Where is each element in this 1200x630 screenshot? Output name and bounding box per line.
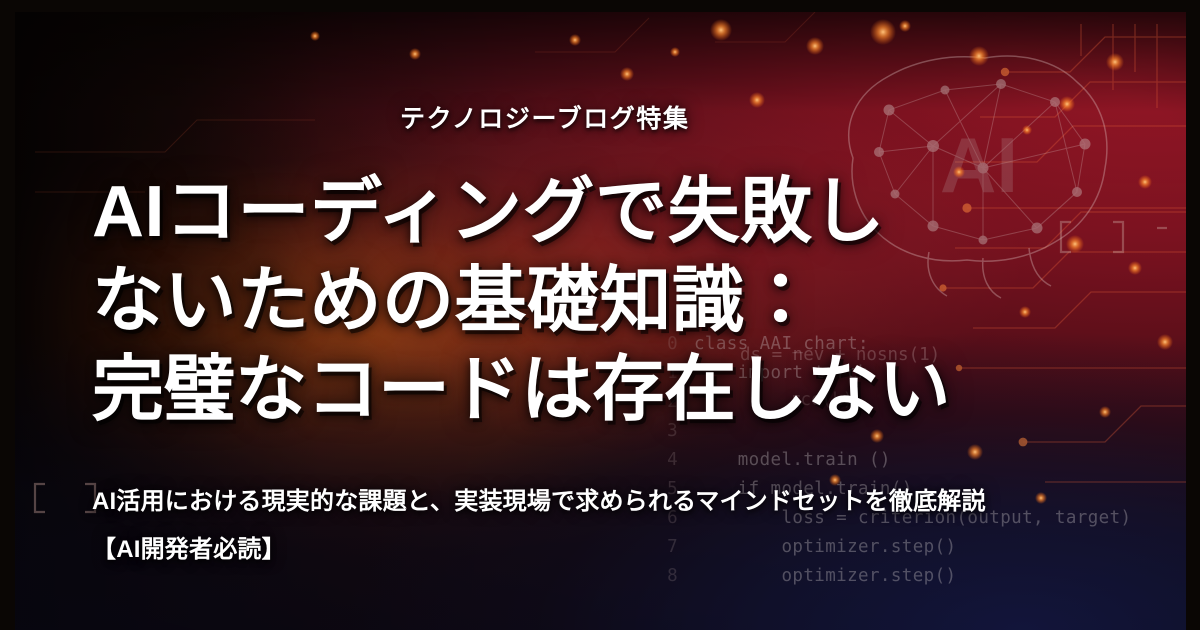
page-title-line-1: AIコーディングで失敗し [92,168,1152,257]
page-title-line-3: 完璧なコードは存在しない [92,346,1152,435]
banner-text-content: テクノロジーブログ特集 AIコーディングで失敗しないための基礎知識：完璧なコード… [0,0,1200,630]
page-title-line-2: ないための基礎知識： [92,257,1152,346]
hero-banner: AI [0,0,1200,630]
subtitle-text: AI活用における現実的な課題と、実装現場で求められるマインドセットを徹底解説【A… [92,478,1162,574]
subtitle-line-2: 【AI開発者必読】 [92,526,1162,574]
subtitle-line-1: AI活用における現実的な課題と、実装現場で求められるマインドセットを徹底解説 [92,478,1162,526]
eyebrow-label: テクノロジーブログ特集 [400,99,690,135]
page-title: AIコーディングで失敗しないための基礎知識：完璧なコードは存在しない [92,168,1152,435]
